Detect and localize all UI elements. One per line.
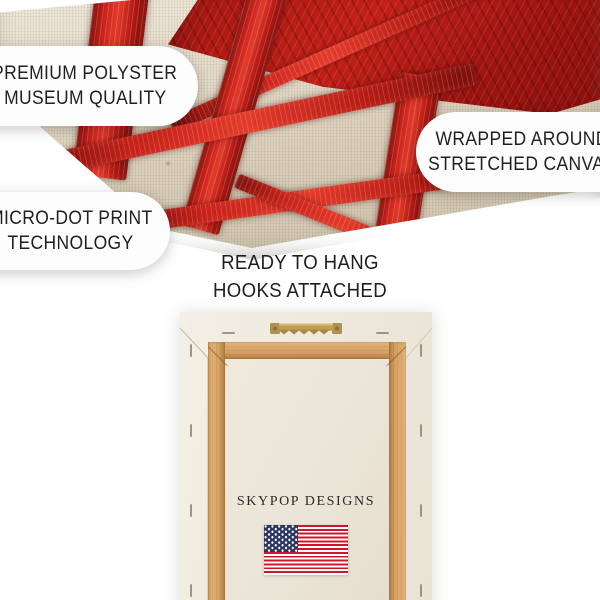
staple — [420, 344, 422, 357]
stretcher-bar-right — [389, 342, 406, 600]
flag-canton — [264, 525, 298, 552]
badge-line-1: MICRO-DOT PRINT — [0, 206, 153, 231]
stretcher-bar-top — [208, 342, 406, 359]
flag-stars — [264, 525, 298, 552]
brand-label: SKYPOP DESIGNS — [180, 494, 432, 510]
badge-line-2: TECHNOLOGY — [8, 231, 134, 256]
canvas-back-view: SKYPOP DESIGNS — [180, 312, 432, 600]
staple — [420, 424, 422, 437]
hang-line-1: READY TO HANG — [184, 250, 417, 278]
staple — [376, 332, 389, 334]
staple — [190, 584, 192, 597]
hang-line-2: HOOKS ATTACHED — [184, 278, 417, 306]
stretcher-mitre-left — [208, 342, 232, 366]
staple — [420, 584, 422, 597]
sawtooth-hanger-icon — [270, 321, 342, 337]
stretcher-bar-left — [208, 342, 225, 600]
ready-to-hang-text: READY TO HANG HOOKS ATTACHED — [175, 250, 425, 305]
product-feature-image: PREMIUM POLYSTER MUSEUM QUALITY WRAPPED … — [0, 0, 600, 600]
staple — [222, 332, 235, 334]
badge-line-2: MUSEUM QUALITY — [4, 86, 166, 111]
staple — [190, 344, 192, 357]
wrapped-around-badge: WRAPPED AROUND STRETCHED CANVAS — [416, 112, 600, 192]
staple — [190, 424, 192, 437]
badge-line-1: WRAPPED AROUND — [435, 127, 600, 152]
usa-flag-icon — [264, 525, 348, 575]
badge-line-2: STRETCHED CANVAS — [428, 152, 600, 177]
stretcher-mitre-right — [382, 342, 406, 366]
premium-polyster-badge: PREMIUM POLYSTER MUSEUM QUALITY — [0, 46, 198, 126]
micro-dot-badge: MICRO-DOT PRINT TECHNOLOGY — [0, 192, 170, 270]
badge-line-1: PREMIUM POLYSTER — [0, 61, 178, 86]
